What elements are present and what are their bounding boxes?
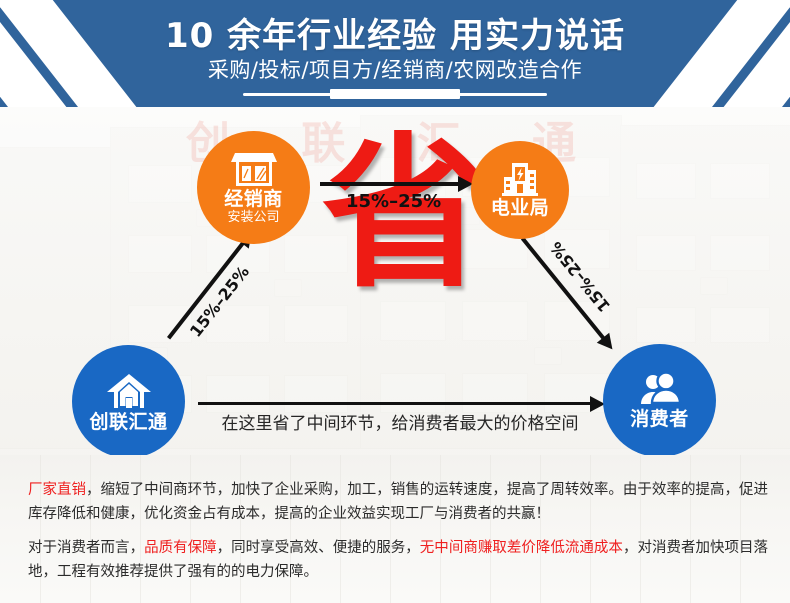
- node-dealer-sublabel: 安装公司: [227, 211, 279, 226]
- arrow-label-dealer-to-power: 15%–25%: [346, 191, 441, 212]
- node-power-bureau-label: 电业局: [491, 199, 550, 219]
- node-consumer[interactable]: 消费者: [603, 344, 716, 455]
- highlight-no-middleman: 无中间商赚取差价降低流通成本: [420, 540, 623, 556]
- direct-channel-caption: 在这里省了中间环节，给消费者最大的价格空间: [190, 409, 610, 434]
- footer-description: 厂家直销，缩短了中间商环节，加快了企业采购，加工，销售的运转速度，提高了周转效率…: [0, 455, 790, 603]
- header-title: 10 余年行业经验 用实力说话: [0, 8, 790, 57]
- node-brand-label: 创联汇通: [89, 413, 167, 433]
- paragraph-factory-direct: 厂家直销，缩短了中间商环节，加快了企业采购，加工，销售的运转速度，提高了周转效率…: [28, 478, 768, 528]
- house-icon: [105, 371, 153, 411]
- node-dealer[interactable]: 经销商 安装公司: [197, 131, 310, 244]
- paragraph-consumer-benefit: 对于消费者而言，品质有保障，同时享受高效、便捷的服务，无中间商赚取差价降低流通成…: [28, 536, 768, 586]
- header-divider-accent: [330, 89, 460, 99]
- arrow-shaft: [320, 182, 460, 186]
- promo-infographic: 10 余年行业经验 用实力说话 采购/投标/项目方/经销商/农网改造合作: [0, 0, 790, 603]
- diagram-stage: 创 联 汇 通 省 15%–25% 15%–25% 15%–25% 在这里省了中…: [0, 107, 790, 455]
- paragraph-2-mid: ，同时享受高效、便捷的服务，: [217, 540, 420, 556]
- highlight-factory-direct: 厂家直销: [28, 482, 86, 498]
- people-icon: [636, 372, 684, 408]
- power-building-icon: [501, 161, 539, 197]
- header-subtitle: 采购/投标/项目方/经销商/农网改造合作: [0, 54, 790, 84]
- node-dealer-label: 经销商: [224, 190, 283, 210]
- node-consumer-label: 消费者: [630, 410, 689, 430]
- center-savings-character: 省: [322, 132, 482, 297]
- arrow-shaft: [198, 402, 592, 405]
- node-power-bureau[interactable]: 电业局: [471, 141, 569, 239]
- node-brand[interactable]: 创联汇通: [72, 345, 185, 455]
- shop-icon: [231, 150, 277, 188]
- paragraph-2-lead: 对于消费者而言，: [28, 540, 144, 556]
- highlight-quality-guarantee: 品质有保障: [144, 540, 217, 556]
- paragraph-1-body: ，缩短了中间商环节，加快了企业采购，加工，销售的运转速度，提高了周转效率。由于效…: [28, 482, 768, 523]
- header-banner: 10 余年行业经验 用实力说话 采购/投标/项目方/经销商/农网改造合作: [0, 0, 790, 107]
